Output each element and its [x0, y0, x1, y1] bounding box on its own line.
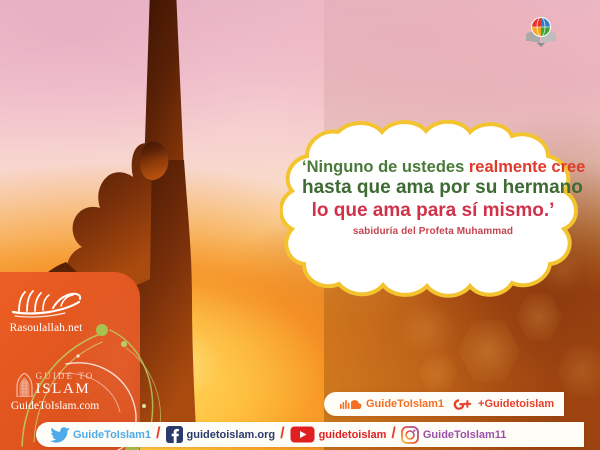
- globe-book-logo: [524, 14, 558, 48]
- soundcloud-label: GuideToIslam1: [366, 398, 444, 410]
- quote-bubble: ‘Ninguno de ustedes realmente cree hasta…: [280, 118, 586, 300]
- poster-canvas: Rasoulallah.net GUIDE TO ISLAM GuideToIs…: [0, 0, 600, 450]
- rasoulallah-logo[interactable]: Rasoulallah.net: [0, 276, 92, 338]
- social-separator: /: [156, 425, 160, 443]
- quote-attribution: sabiduría del Profeta Muhammad: [302, 226, 564, 237]
- instagram-icon: [401, 426, 419, 444]
- guide-domain: GuideToIslam.com: [11, 400, 99, 412]
- social-separator: /: [391, 425, 395, 443]
- instagram-label: GuideToIslam11: [423, 429, 507, 441]
- social-link-instagram[interactable]: GuideToIslam11: [401, 426, 507, 444]
- bokeh-circle: [398, 300, 454, 356]
- social-link-youtube[interactable]: guidetoislam: [290, 426, 387, 443]
- twitter-icon: [50, 427, 69, 443]
- quote-line-1: ‘Ninguno de ustedes realmente cree: [302, 158, 564, 176]
- quote-line-2: hasta que ama por su hermano: [302, 177, 564, 198]
- social-link-twitter[interactable]: GuideToIslam1: [50, 427, 151, 443]
- social-link-soundcloud[interactable]: GuideToIslam1: [340, 398, 444, 411]
- googleplus-icon: [452, 397, 474, 412]
- guide-to-islam-logo[interactable]: GUIDE TO ISLAM GuideToIslam.com: [2, 372, 108, 418]
- guide-word-2: ISLAM: [36, 382, 95, 397]
- social-bar-bottom: GuideToIslam1 / guidetoislam.org / guide…: [36, 422, 584, 447]
- youtube-label: guidetoislam: [319, 429, 387, 441]
- googleplus-label: +Guidetoislam: [478, 398, 554, 410]
- quote-line-1-green: ‘Ninguno de ustedes: [302, 158, 464, 176]
- quote-line-3: lo que ama para sí mismo.’: [302, 200, 564, 221]
- arabic-calligraphy-icon: [9, 287, 83, 321]
- soundcloud-icon: [340, 398, 362, 411]
- social-bar-top: GuideToIslam1 +Guidetoislam: [324, 392, 564, 416]
- rasoulallah-domain: Rasoulallah.net: [10, 322, 83, 334]
- social-link-facebook[interactable]: guidetoislam.org: [166, 426, 276, 443]
- twitter-label: GuideToIslam1: [73, 429, 151, 441]
- quote-line-1-red: realmente cree: [469, 158, 586, 176]
- social-separator: /: [280, 425, 284, 443]
- guide-word-1: GUIDE TO: [36, 372, 95, 381]
- facebook-icon: [166, 426, 183, 443]
- facebook-label: guidetoislam.org: [187, 429, 276, 441]
- social-link-googleplus[interactable]: +Guidetoislam: [452, 397, 554, 412]
- mosque-arch-icon: [16, 373, 33, 397]
- youtube-icon: [290, 426, 315, 443]
- quote-text-block: ‘Ninguno de ustedes realmente cree hasta…: [302, 158, 564, 237]
